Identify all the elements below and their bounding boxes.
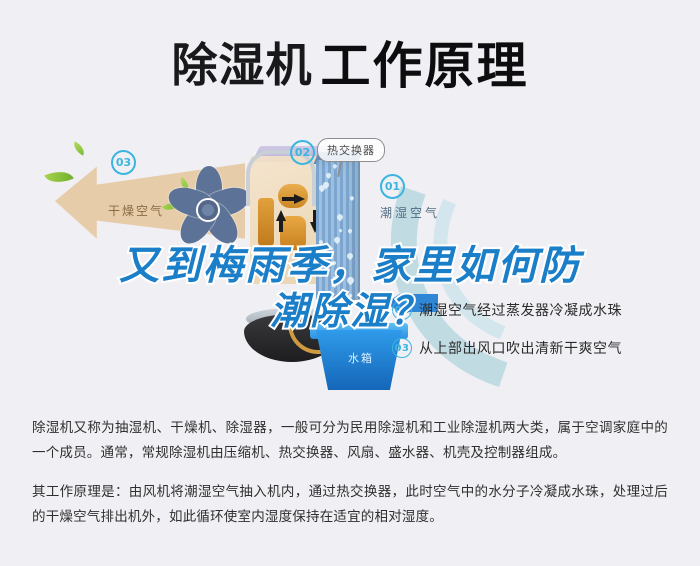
flow-arrow-up	[279, 220, 283, 232]
step-badge: 03	[392, 338, 412, 358]
water-tank-label: 水箱	[348, 350, 374, 366]
body-paragraph-2: 其工作原理是：由风机将潮湿空气抽入机内，通过热交换器，此时空气中的水分子冷凝成水…	[32, 480, 668, 530]
humid-air-label: 潮湿空气	[380, 204, 440, 221]
badge-02: 02	[290, 140, 315, 165]
title-part-principle: 工作原理	[321, 37, 529, 95]
leaf-icon	[44, 166, 73, 189]
heat-exchanger-callout: 热交换器	[317, 138, 385, 162]
machine-body	[250, 146, 368, 324]
step-text: 潮湿空气经过蒸发器冷凝成水珠	[419, 300, 622, 320]
dehumidifier-diagram: 干燥空气	[0, 118, 700, 406]
leaf-icon	[71, 141, 88, 156]
title-part-product: 除湿机	[172, 38, 313, 92]
fan-hub	[198, 200, 218, 220]
diagram-step: 02 潮湿空气经过蒸发器冷凝成水珠	[392, 300, 692, 320]
badge-03: 03	[111, 150, 136, 175]
diagram-step: 03 从上部出风口吹出清新干爽空气	[392, 338, 692, 358]
body-paragraph-1: 除湿机又称为抽湿机、干燥机、除湿器，一般可分为民用除湿机和工业除湿机两大类，属于…	[32, 416, 668, 466]
dry-air-label: 干燥空气	[108, 202, 164, 219]
page-title: 除湿机工作原理	[0, 26, 700, 98]
flow-arrow-up	[276, 210, 286, 221]
article-page: 除湿机工作原理 干燥空气	[0, 0, 700, 566]
article-body: 除湿机又称为抽湿机、干燥机、除湿器，一般可分为民用除湿机和工业除湿机两大类，属于…	[0, 416, 700, 544]
diagram-step-list: 02 潮湿空气经过蒸发器冷凝成水珠 03 从上部出风口吹出清新干爽空气	[392, 300, 692, 376]
fan-icon	[158, 160, 254, 256]
flow-arrow-right	[294, 194, 305, 204]
step-badge: 02	[392, 300, 412, 320]
badge-01: 01	[380, 174, 405, 199]
compressor-coil	[258, 198, 274, 246]
compressor-coil	[280, 216, 306, 250]
step-text: 从上部出风口吹出清新干爽空气	[419, 338, 622, 358]
